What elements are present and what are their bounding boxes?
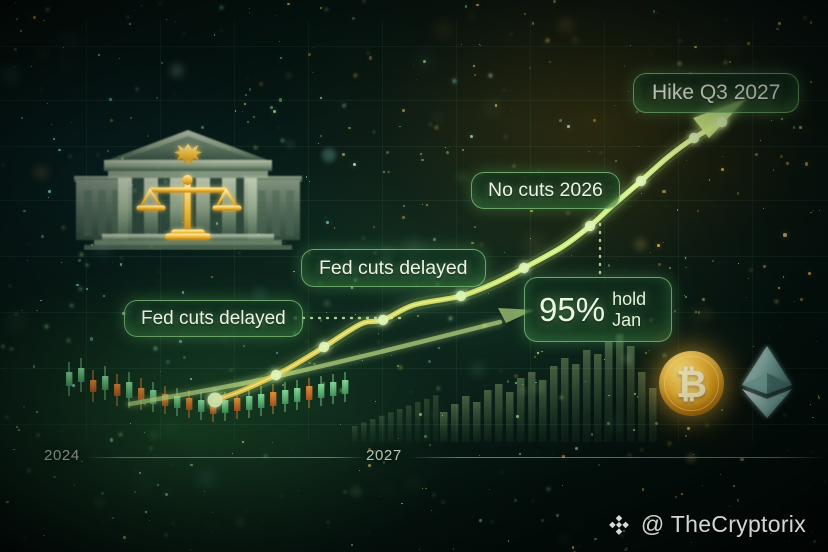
- binance-diamond-icon: [606, 512, 632, 538]
- vignette-overlay: [0, 0, 828, 552]
- infographic-canvas: 20242027 Fed cuts delayed Fed cuts delay…: [0, 0, 828, 552]
- watermark-handle: @ TheCryptorix: [641, 511, 806, 538]
- watermark: @ TheCryptorix: [606, 511, 806, 538]
